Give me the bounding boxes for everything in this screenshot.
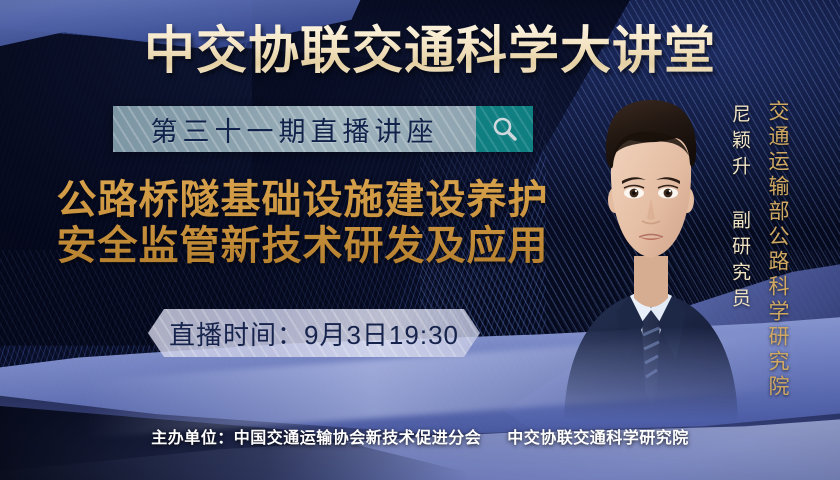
live-time-text: 直播时间：9月3日19:30 bbox=[169, 315, 459, 352]
speaker-portrait bbox=[556, 60, 746, 420]
footer-org-1: 中国交通运输协会新技术促进分会 bbox=[234, 430, 482, 447]
footer-organizers: 主办单位：中国交通运输协会新技术促进分会中交协联交通科学研究院 bbox=[0, 424, 840, 448]
search-input[interactable]: 第三十一期直播讲座 bbox=[113, 106, 476, 152]
speaker-organization: 交通运输部公路科学研究院 bbox=[762, 100, 792, 400]
poster-canvas: 中交协联交通科学大讲堂 第三十一期直播讲座 公路桥隧基础设施建设养护 安全监管新… bbox=[0, 0, 840, 480]
lecture-title: 公路桥隧基础设施建设养护 安全监管新技术研发及应用 bbox=[30, 178, 575, 269]
episode-search-bar[interactable]: 第三十一期直播讲座 bbox=[113, 106, 533, 152]
speaker-name-title: 尼颖升 副研究员 bbox=[726, 104, 753, 314]
lecture-title-line-2: 安全监管新技术研发及应用 bbox=[30, 224, 575, 270]
portrait-illustration bbox=[556, 60, 746, 420]
lecture-title-line-1: 公路桥隧基础设施建设养护 bbox=[30, 178, 575, 224]
footer-org-2: 中交协联交通科学研究院 bbox=[507, 430, 689, 447]
search-input-value: 第三十一期直播讲座 bbox=[151, 110, 439, 149]
footer-label: 主办单位： bbox=[151, 430, 234, 447]
page-title: 中交协联交通科学大讲堂 bbox=[140, 18, 720, 82]
search-button[interactable] bbox=[476, 106, 533, 152]
live-time-badge: 直播时间：9月3日19:30 bbox=[148, 309, 480, 357]
search-icon bbox=[490, 114, 520, 144]
